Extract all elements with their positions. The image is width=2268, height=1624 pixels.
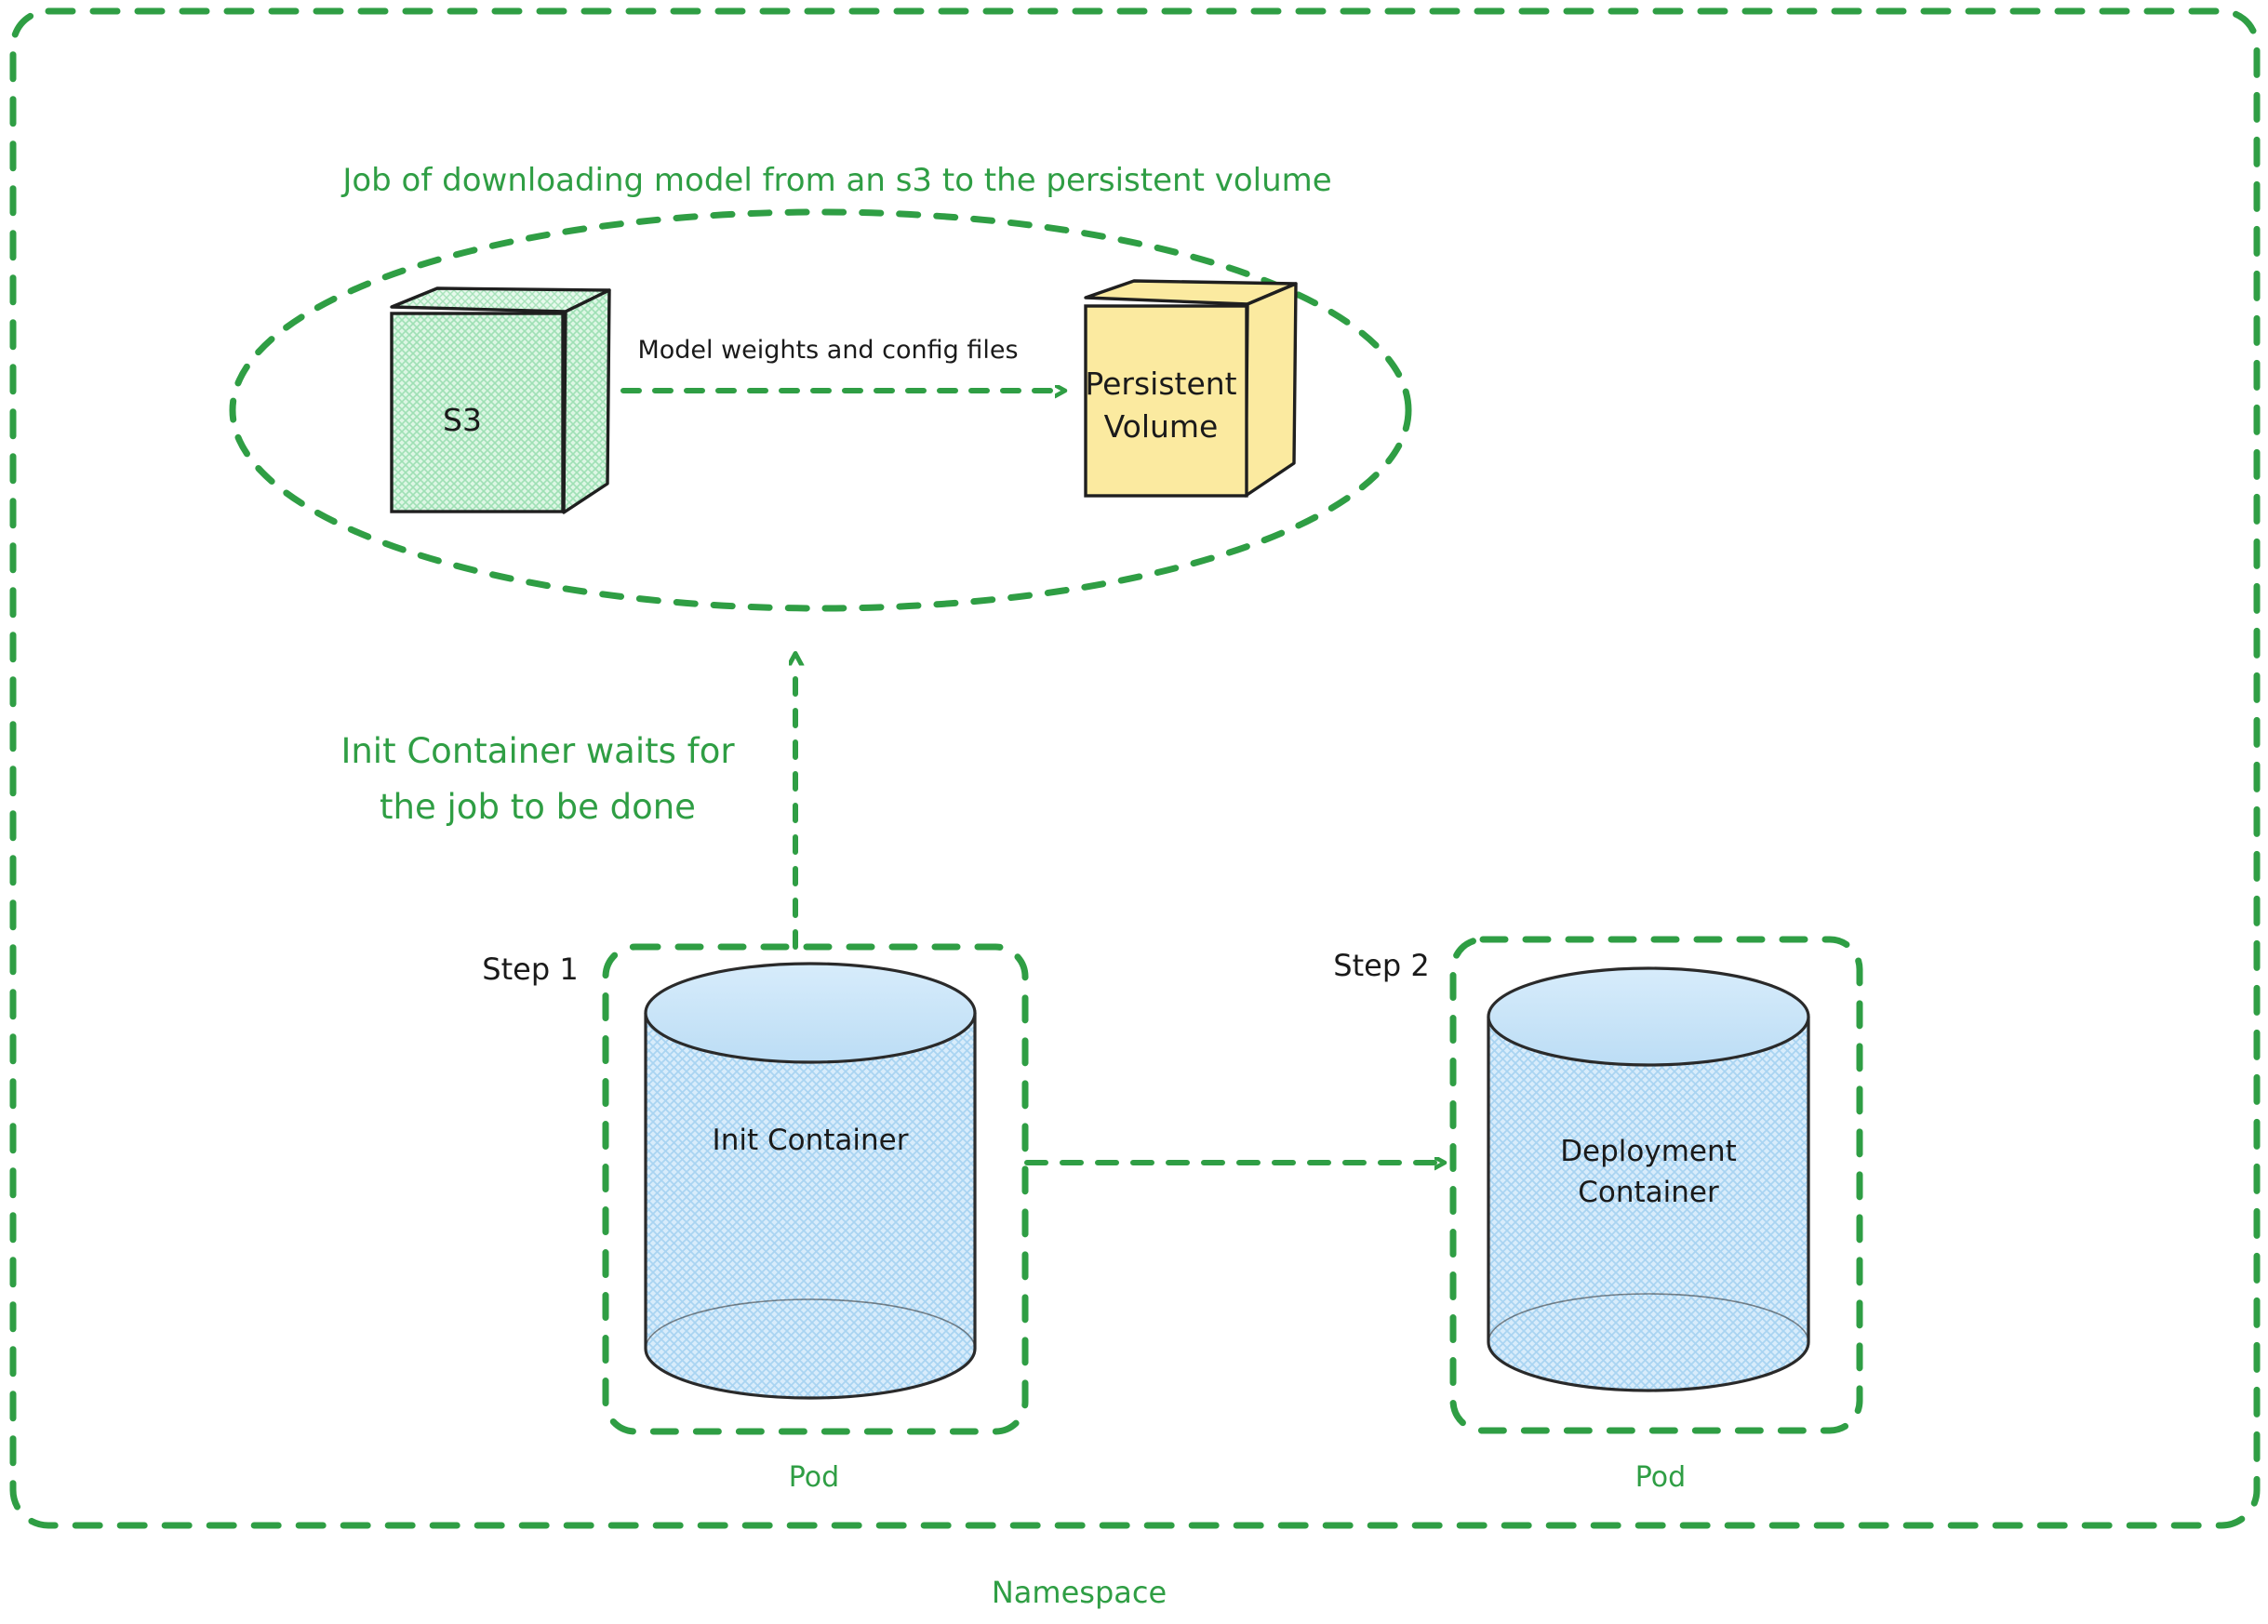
namespace-label: Namespace [992, 1575, 1167, 1610]
job-group: Job of downloading model from an s3 to t… [233, 162, 1408, 608]
wait-note-line2: the job to be done [380, 787, 696, 827]
init-container-label: Init Container [713, 1124, 909, 1157]
architecture-diagram: Namespace Job of downloading model from … [0, 0, 2268, 1624]
init-container-top-cap [646, 964, 975, 1062]
init-container-wait-note: Init Container waits for the job to be d… [340, 662, 795, 947]
cylinder-deployment-container[interactable]: Deployment Container [1488, 968, 1808, 1391]
wait-note-line1: Init Container waits for [340, 731, 735, 771]
s3-label: S3 [443, 402, 482, 438]
pv-label-line1: Persistent [1085, 366, 1236, 402]
pod-1-label: Pod [789, 1461, 839, 1494]
pod-2[interactable]: Step 2 Deployment Container Pod [1333, 939, 1860, 1494]
edge-s3-to-pv-label: Model weights and config files [637, 336, 1018, 365]
pv-label-line2: Volume [1104, 408, 1219, 445]
s3-cube-side [564, 290, 609, 512]
node-persistent-volume[interactable]: Persistent Volume [1085, 281, 1296, 496]
deployment-container-label-line2: Container [1578, 1176, 1719, 1209]
pod-1-step-label: Step 1 [482, 952, 578, 987]
deployment-container-label-line1: Deployment [1560, 1135, 1737, 1168]
namespace-boundary: Namespace [13, 11, 2257, 1610]
pv-cube-side [1246, 284, 1296, 496]
cylinder-init-container[interactable]: Init Container [646, 964, 975, 1398]
init-container-body [646, 1013, 975, 1398]
pod-1[interactable]: Step 1 Init Container Pod [482, 947, 1025, 1494]
deployment-container-top-cap [1488, 968, 1808, 1065]
diagram-canvas: Namespace Job of downloading model from … [0, 0, 2268, 1624]
pod-2-label: Pod [1635, 1461, 1686, 1494]
node-s3[interactable]: S3 [392, 288, 609, 512]
job-group-title: Job of downloading model from an s3 to t… [340, 162, 1331, 199]
edge-s3-to-pv: Model weights and config files [623, 336, 1058, 391]
pod-2-step-label: Step 2 [1333, 948, 1429, 983]
